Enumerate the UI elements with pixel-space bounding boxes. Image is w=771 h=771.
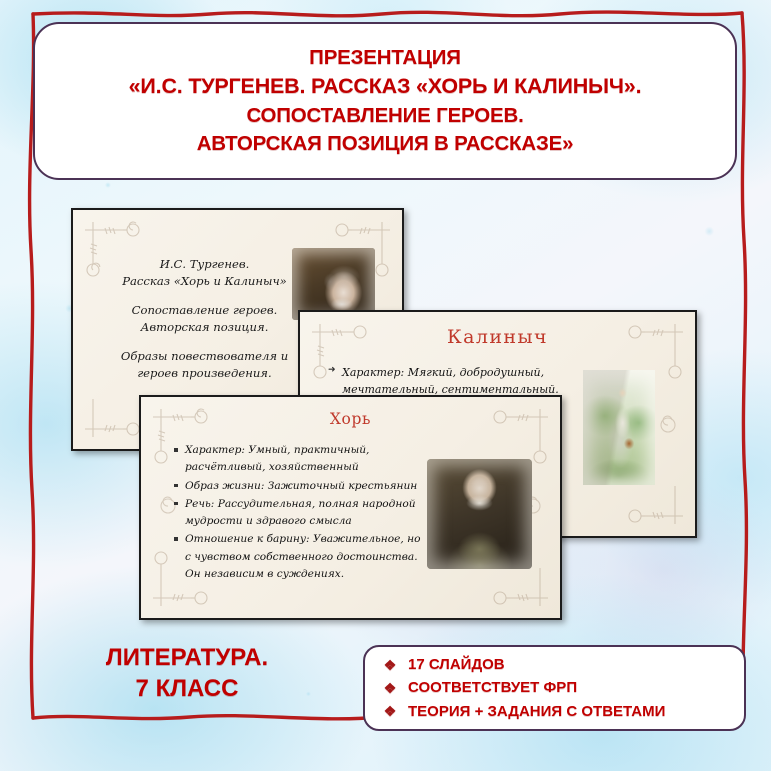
corner-ornament-icon <box>79 375 147 443</box>
feature-label: ТЕОРИЯ + ЗАДАНИЯ С ОТВЕТАМИ <box>408 700 665 723</box>
subject-line-1: ЛИТЕРАТУРА. <box>62 643 312 674</box>
slide3-bullet-4: Отношение к барину: Уважительное, но с ч… <box>174 531 424 583</box>
slide3-heading: Хорь <box>141 410 560 428</box>
slide2-heading: Калиныч <box>300 326 695 348</box>
slide1-text-block: И.С. Тургенев. Рассказ «Хорь и Калиныч» … <box>97 256 312 382</box>
spiral-ornament-icon <box>651 408 685 442</box>
slide1-paragraph-2: Сопоставление героев. Авторская позиция. <box>97 302 312 337</box>
slide1-paragraph-1: И.С. Тургенев. Рассказ «Хорь и Калиныч» <box>97 256 312 291</box>
feature-item: ❖ ТЕОРИЯ + ЗАДАНИЯ С ОТВЕТАМИ <box>383 700 744 723</box>
slide-preview-khor[interactable]: Хорь Характер: Умный, практичный, расчёт… <box>139 395 562 620</box>
feature-item: ❖ СООТВЕТСТВУЕТ ФРП <box>383 676 744 699</box>
feature-label: 17 СЛАЙДОВ <box>408 653 505 676</box>
khor-portrait-image <box>427 459 532 569</box>
slide3-bullet-2: Образ жизни: Зажиточный крестьянин <box>174 478 424 495</box>
feature-item: ❖ 17 СЛАЙДОВ <box>383 653 744 676</box>
slide3-bullet-1: Характер: Умный, практичный, расчётливый… <box>174 442 424 477</box>
slide2-bullet-1: Характер: Мягкий, добродушный, мечтатель… <box>328 364 583 398</box>
feature-label: СООТВЕТСТВУЕТ ФРП <box>408 676 577 699</box>
diamond-bullet-icon: ❖ <box>383 681 397 695</box>
features-panel: ❖ 17 СЛАЙДОВ ❖ СООТВЕТСТВУЕТ ФРП ❖ ТЕОРИ… <box>363 645 746 731</box>
slide3-bullet-3: Речь: Рассудительная, полная народной му… <box>174 496 424 531</box>
kalinych-illustration-image <box>583 370 655 485</box>
diamond-bullet-icon: ❖ <box>383 658 397 672</box>
diamond-bullet-icon: ❖ <box>383 704 397 718</box>
subject-line-2: 7 КЛАСС <box>62 674 312 705</box>
slide3-bullet-list: Характер: Умный, практичный, расчётливый… <box>174 442 424 584</box>
slide1-paragraph-3: Образы повествователя и героев произведе… <box>97 348 312 383</box>
subject-block: ЛИТЕРАТУРА. 7 КЛАСС <box>62 643 312 704</box>
